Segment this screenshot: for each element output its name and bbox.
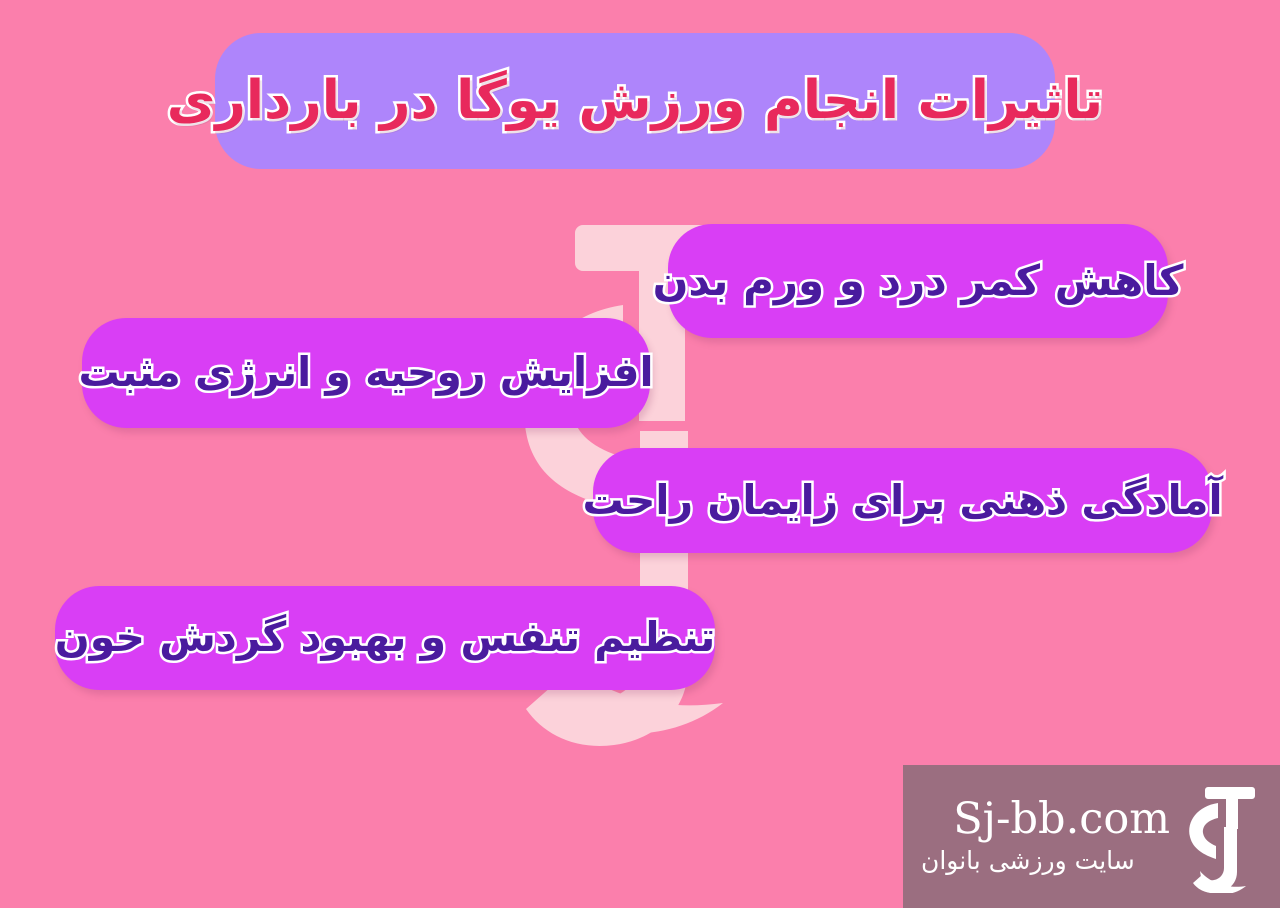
benefit-pill-4: تنظیم تنفس و بهبود گردش خون	[55, 586, 715, 690]
sj-monogram-logo-icon	[1180, 781, 1266, 893]
site-watermark: Sj-bb.com سایت ورزشی بانوان	[903, 765, 1280, 908]
watermark-tagline: سایت ورزشی بانوان	[921, 846, 1137, 876]
poster-title-pill: تاثیرات انجام ورزش یوگا در بارداری	[215, 33, 1055, 169]
watermark-texts: Sj-bb.com سایت ورزشی بانوان	[921, 797, 1170, 876]
benefit-label-1: کاهش کمر درد و ورم بدن	[653, 259, 1184, 303]
benefit-label-3: آمادگی ذهنی برای زایمان راحت	[582, 479, 1222, 522]
watermark-domain: Sj-bb.com	[953, 797, 1170, 842]
benefit-pill-1: کاهش کمر درد و ورم بدن	[668, 224, 1168, 338]
benefit-label-4: تنظیم تنفس و بهبود گردش خون	[55, 616, 716, 659]
benefit-label-2: افزایش روحیه و انرژی مثبت	[78, 351, 653, 394]
benefit-pill-2: افزایش روحیه و انرژی مثبت	[82, 318, 650, 428]
poster-title: تاثیرات انجام ورزش یوگا در بارداری	[167, 73, 1103, 129]
benefit-pill-3: آمادگی ذهنی برای زایمان راحت	[593, 448, 1212, 553]
poster-canvas: تاثیرات انجام ورزش یوگا در بارداری کاهش …	[0, 0, 1280, 908]
